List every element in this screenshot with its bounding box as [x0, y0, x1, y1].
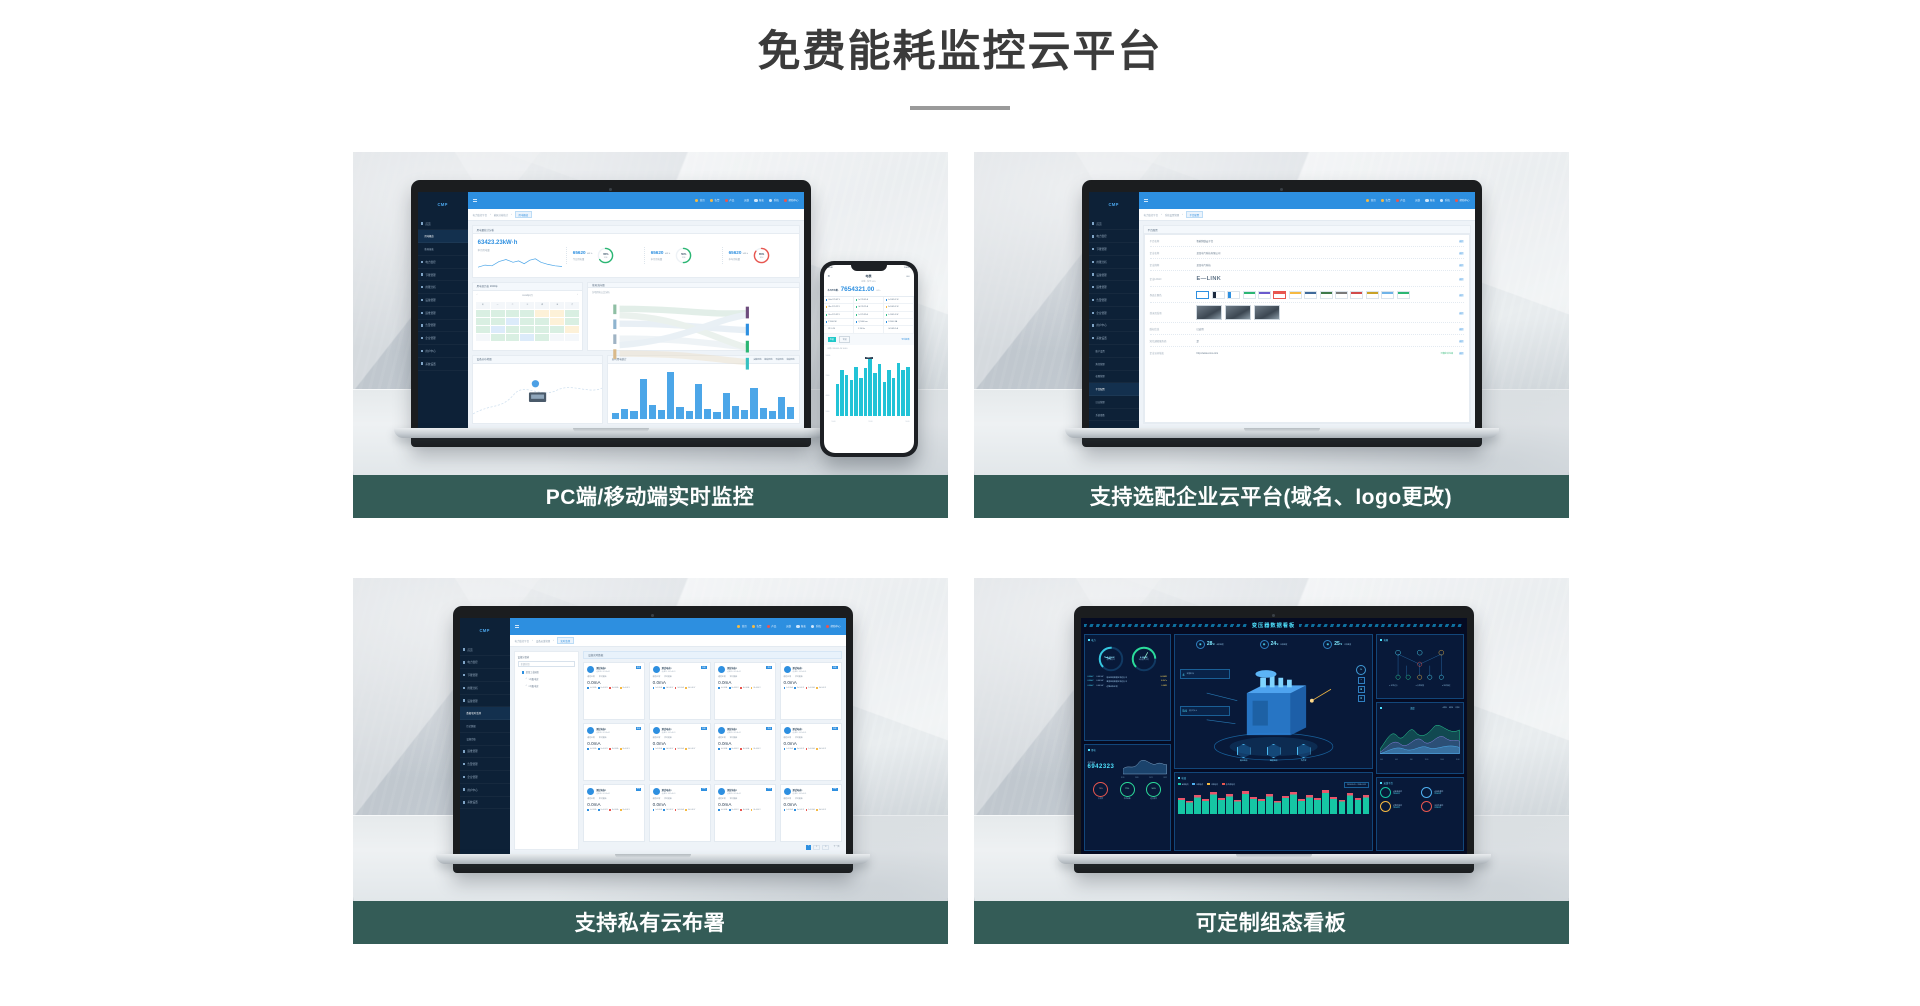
card-private-cloud[interactable]: CMP 首页 电力监控 节能管理 用能分析 设备管理 数据/实时监测 历史数据 …	[353, 578, 948, 944]
menu-toggle-icon[interactable]	[1144, 199, 1148, 202]
kpi-panel: 用电量统计分析 63423.23kW·h 本月用电量	[472, 225, 800, 278]
sidebar-item-7[interactable]: 设备台账	[460, 733, 510, 746]
sidebar-item-label: 用户中心	[425, 349, 435, 353]
sidebar-item-7[interactable]: 企业管理	[1089, 307, 1139, 320]
sparkline-chart	[478, 256, 562, 270]
panel-power: 电力 0.00kW总负荷功率	[1084, 634, 1171, 741]
toolbar-item-6[interactable]: 帮助中心	[826, 624, 841, 628]
product-photo-1: CMP 首页 用电概览 能耗报表 电力监控 节能管理 用能分析 设备管理 运维管…	[353, 152, 948, 475]
toolbar-item-3[interactable]: 运维	[1410, 198, 1420, 202]
card-custom-dashboard[interactable]: 变压器数据看板 电力	[974, 578, 1569, 944]
sidebar-item-label: 用电概览	[425, 234, 434, 238]
edit-link[interactable]: 编辑	[1459, 277, 1463, 281]
toolbar-item-4[interactable]: 报表	[796, 624, 806, 628]
sidebar-item-2[interactable]: 节能管理	[1089, 243, 1139, 256]
sidebar-item-1[interactable]: 电力监控	[460, 656, 510, 669]
product-photo-3: CMP 首页 电力监控 节能管理 用能分析 设备管理 数据/实时监测 历史数据 …	[353, 578, 948, 901]
sidebar-item-0[interactable]: 首页	[460, 644, 510, 657]
sidebar-item-8[interactable]: 运维管理	[460, 746, 510, 759]
toolbar-item-0[interactable]: 首页	[695, 198, 705, 202]
kpi-row: 63423.23kW·h 本月用电量 65620kW·h今	[473, 234, 799, 277]
stage-controls[interactable]: 24 ⌃ ⊞ ⚙	[1356, 665, 1366, 702]
table-row: 0.00kV0.00 kW电压监测数据正常运行中0.00MΩ	[1088, 676, 1167, 679]
reading-cell: Ia 270.62 A	[854, 297, 884, 304]
topology-legend: ● 正常运行● 异常告警● 检修停运	[1380, 685, 1459, 687]
user-icon	[784, 199, 787, 202]
device-value: 0.0mA	[718, 680, 772, 685]
status-badge: 在线	[832, 666, 838, 669]
donut-ring	[1421, 801, 1432, 812]
info-chip-runtime: 54 运行时长 h	[1180, 706, 1230, 716]
pod-group[interactable]: 电压监测 温度监测 负荷率	[1178, 744, 1369, 763]
status-badge: 在线	[636, 666, 642, 669]
page-title: 免费能耗监控云平台	[0, 26, 1920, 80]
sidebar-item-10[interactable]: 账户设置	[1089, 345, 1139, 358]
card-caption-4: 可定制组态看板	[974, 901, 1569, 944]
board-header: 变压器数据看板	[1084, 621, 1464, 631]
status-table: 0.00kV0.00 kW电压监测数据正常运行中0.00MΩ 0.00kV0.0…	[1088, 676, 1167, 688]
hex-icon	[1267, 744, 1281, 758]
sidebar-item-8[interactable]: 用户中心	[1089, 320, 1139, 333]
decor-dash-right	[1299, 624, 1463, 627]
config-row-logo: 企业LOGOE—LINK编辑	[1150, 271, 1464, 287]
tab-energy[interactable]: 电量	[828, 337, 837, 342]
sidebar-item-3[interactable]: 电力监控	[418, 256, 468, 269]
device-card[interactable]: 在线测试电表1设备ID: 001-A-01通信正常实时更新0.0mAIa 0.0…	[583, 662, 645, 719]
device-card[interactable]: 在线测试电表1设备ID: 001-A-01通信正常实时更新0.0mAIa 0.0…	[780, 723, 842, 780]
thermometer-icon: ◉	[1196, 640, 1205, 649]
sidebar-item-0[interactable]: 首页	[1089, 218, 1139, 231]
sidebar-item-4[interactable]: 设备管理	[460, 695, 510, 708]
reading-cell: Ih 1665.5 A	[884, 326, 914, 333]
dashboard-body: 用电量统计分析 63423.23kW·h 本月用电量	[468, 221, 804, 427]
sidebar-item-1[interactable]: 电力监控	[1089, 230, 1139, 243]
reading-cell: lb 1665.5 W	[884, 304, 914, 311]
edit-link[interactable]: 编辑	[1459, 311, 1463, 315]
calendar-nav[interactable]: ‹ 2024年1月 ›	[473, 291, 582, 299]
status-dot-icon	[710, 199, 713, 202]
sidebar-item-8[interactable]: 告警管理	[418, 320, 468, 333]
sidebar-item-label: 节能管理	[425, 273, 435, 277]
sidebar-item-4[interactable]: 节能管理	[418, 269, 468, 282]
toolbar-item-4[interactable]: 报表	[754, 198, 764, 202]
breadcrumb: 电力监控平台 › 能耗分析统计 › 用电概览	[468, 209, 804, 222]
toolbar-item-1[interactable]: 告警	[1381, 198, 1391, 202]
hex-icon	[1237, 744, 1251, 758]
title-divider	[910, 106, 1010, 110]
device-card[interactable]: 在线测试电表1设备ID: 001-A-01通信正常实时更新0.0mAIa 0.0…	[583, 723, 645, 780]
sidebar-item-6[interactable]: 设备管理	[418, 294, 468, 307]
toolbar-item-3[interactable]: 运维	[781, 624, 791, 628]
toolbar-item-1[interactable]: 告警	[710, 198, 720, 202]
phone-readings-grid: Uab 270.62 V Ia 270.62 A la 1665.5 W Ubc…	[824, 297, 914, 334]
sankey-diagram	[588, 296, 798, 371]
device-value: 0.0mA	[653, 680, 707, 685]
device-value: 0.0mA	[718, 802, 772, 807]
menu-toggle-icon[interactable]	[515, 625, 519, 628]
sidebar-item-9[interactable]: 告警管理	[460, 758, 510, 771]
panel-title: 电网	[1380, 638, 1459, 642]
config-panel: 平台配置 平台名称智能物联云平台编辑 企业名称某某电气科技有限公司编辑 企业简称…	[1143, 225, 1471, 423]
toolbar-item-6[interactable]: 帮助中心	[1455, 198, 1470, 202]
thumb-0[interactable]	[1196, 305, 1222, 320]
breadcrumb-active-tab[interactable]: 平台配置	[1186, 211, 1203, 218]
bullet-icon	[1092, 312, 1094, 314]
status-dot-icon	[739, 199, 742, 202]
app-logo[interactable]: CMP	[418, 192, 468, 218]
toolbar-item-2[interactable]: 产品	[1396, 198, 1406, 202]
device-card[interactable]: 在线测试电表1设备ID: 001-A-01通信正常实时更新0.0mAIa 0.0…	[583, 784, 645, 841]
edit-link[interactable]: 编辑	[1459, 293, 1463, 297]
theme-swatches[interactable]	[1196, 291, 1453, 299]
swatch-4[interactable]	[1258, 291, 1271, 299]
bullet-icon	[421, 312, 423, 314]
breadcrumb-item[interactable]: 能耗分析统计	[494, 213, 508, 217]
panel-temperature: 温度 A相温 B相温 C相温	[1376, 702, 1463, 774]
device-avatar-icon	[718, 727, 725, 734]
pod-temperature[interactable]: 温度监测	[1267, 744, 1281, 763]
sidebar-item-0[interactable]: 首页	[418, 218, 468, 231]
sidebar-item-11[interactable]: 角色管理	[1089, 358, 1139, 371]
device-avatar-icon	[784, 788, 791, 795]
device-card[interactable]: 在线测试电表1设备ID: 001-A-01通信正常实时更新0.0mAIa 0.0…	[714, 723, 776, 780]
device-avatar-icon	[587, 666, 594, 673]
sidebar-item-label: 告警管理	[425, 323, 435, 327]
page-3[interactable]: 3	[822, 845, 829, 850]
device-card[interactable]: 在线测试电表1设备ID: 001-A-01通信正常实时更新0.0mAIa 0.0…	[780, 784, 842, 841]
swatch-1[interactable]	[1212, 291, 1225, 299]
sidebar-item-label: 首页	[425, 222, 430, 226]
toolbar-item-0[interactable]: 首页	[1366, 198, 1376, 202]
config-app: CMP 首页 电力监控 节能管理 用能分析 设备管理 运维管理 告警管理 企业管…	[1089, 192, 1475, 428]
zoom-in-icon[interactable]: ⌃	[1358, 677, 1365, 684]
bullet-icon	[463, 801, 465, 803]
edit-link[interactable]: 编辑	[1459, 251, 1463, 255]
swatch-3[interactable]	[1243, 291, 1256, 299]
app-logo[interactable]: CMP	[460, 618, 510, 644]
swatch-2[interactable]	[1227, 291, 1240, 299]
sidebar-item-12[interactable]: 权限管理	[1089, 371, 1139, 384]
status-dot-icon	[781, 625, 784, 628]
more-icon[interactable]: •••	[906, 274, 909, 278]
breadcrumb-item[interactable]: 设备运维管理	[536, 639, 550, 643]
device-card[interactable]: 在线测试电表1设备ID: 001-A-01通信正常实时更新0.0mAIa 0.0…	[780, 662, 842, 719]
temp-legend[interactable]: A相温 B相温 C相温	[1443, 707, 1460, 709]
swatch-8[interactable]	[1320, 291, 1333, 299]
device-avatar-icon	[784, 666, 791, 673]
dashboard-app: CMP 首页 用电概览 能耗报表 电力监控 节能管理 用能分析 设备管理 运维管…	[418, 192, 804, 428]
tab-demand[interactable]: 需量	[839, 336, 850, 343]
phone-tabs: 电量 需量 导出报表	[824, 334, 914, 346]
sidebar-item-5[interactable]: 用能分析	[418, 281, 468, 294]
chart-legend[interactable]: A相电流 B相电流 C相电流 总负荷电流	[1178, 783, 1235, 786]
gauge-group: 0.00kW总负荷功率 0.00kW当前最大负荷	[1088, 644, 1167, 674]
webcam-dot	[1272, 614, 1275, 617]
card-enterprise-cloud[interactable]: CMP 首页 电力监控 节能管理 用能分析 设备管理 运维管理 告警管理 企业管…	[974, 152, 1569, 518]
board-left-column: 电力 0.00kW总负荷功率	[1084, 634, 1171, 851]
config-row-theme: 界面主题色	[1150, 287, 1464, 303]
kpi-card-0: 65620kW·h今日用电量 65%环比	[566, 247, 638, 264]
device-card[interactable]: 在线测试电表1设备ID: 001-A-01通信正常实时更新0.0mAIa 0.0…	[714, 784, 776, 841]
tree-node-0[interactable]: 某某工业园区	[522, 670, 576, 674]
tree-node-1[interactable]: ○1号配电房	[526, 677, 576, 681]
main-area: 首页 告警 产品 运维 报表 系统 帮助中心 电力监控平台	[468, 192, 804, 428]
kpi-power-factor: 75%功率因数	[1120, 782, 1135, 801]
page-1[interactable]: 1	[806, 845, 811, 850]
breadcrumb-item[interactable]: 电力监控平台	[473, 213, 487, 217]
toolbar-item-1[interactable]: 告警	[752, 624, 762, 628]
device-card[interactable]: 在线测试电表1设备ID: 001-A-01通信正常实时更新0.0mAIa 0.0…	[649, 723, 711, 780]
thermometer-icon: ◉	[1260, 640, 1269, 649]
settings-icon[interactable]: ⚙	[1358, 695, 1365, 702]
sidebar-item-9[interactable]: 系统设置	[1089, 332, 1139, 345]
bullet-icon	[1092, 286, 1094, 288]
status-dot-icon	[767, 625, 770, 628]
top-toolbar: 首页 告警 产品 运维 报表 系统 帮助中心	[1139, 192, 1475, 209]
status-badge: 在线	[766, 727, 772, 730]
bullet-icon	[421, 286, 423, 288]
breadcrumb-item[interactable]: 电力监控平台	[515, 639, 529, 643]
sidebar-item-2[interactable]: 能耗报表	[418, 243, 468, 256]
kpi-efficiency: 50%运行效率	[1146, 782, 1161, 801]
panel-efficiency: 运维平台 设备在线率7654321 设备告警率7654321 运维完成率7654…	[1376, 777, 1463, 851]
sidebar-item-7[interactable]: 运维管理	[418, 307, 468, 320]
bullet-icon	[1092, 235, 1094, 237]
device-card[interactable]: 在线测试电表1设备ID: 001-A-01通信正常实时更新0.0mAIa 0.0…	[714, 662, 776, 719]
toolbar-item-2[interactable]: 产品	[767, 624, 777, 628]
swatch-11[interactable]	[1366, 291, 1379, 299]
sidebar-item-label: 运维管理	[425, 311, 435, 315]
toolbar-item-2[interactable]: 产品	[725, 198, 735, 202]
phone-bar-chart: 10000 7000 4000 1000 8963.2 10:00	[824, 351, 914, 425]
thumb-1[interactable]	[1225, 305, 1251, 320]
gauge-total-load: 0.00kW总负荷功率	[1096, 644, 1126, 674]
sidebar-item-3[interactable]: 用能分析	[1089, 256, 1139, 269]
status-badge: 已绑定并生效	[1441, 352, 1453, 355]
status-badge: 在线	[766, 788, 772, 791]
sidebar-item-5[interactable]: 运维管理	[1089, 281, 1139, 294]
phone-main-kpi: 本月用电量: 7654321.00 kW·h	[824, 283, 914, 297]
export-button[interactable]: 导出报表	[901, 338, 909, 341]
reading-cell: P 5000 W	[824, 319, 854, 326]
sidebar-item-1[interactable]: 用电概览	[418, 230, 468, 243]
card-caption-2: 支持选配企业云平台(域名、logo更改)	[974, 475, 1569, 518]
toolbar-item-5[interactable]: 系统	[1440, 198, 1450, 202]
mid-row: 用电日历表 2024年 ‹ 2024年1月 › 日	[472, 282, 800, 351]
report-icon	[796, 625, 799, 628]
breadcrumb-item[interactable]: 系统设置管理	[1165, 213, 1179, 217]
user-icon	[1455, 199, 1458, 202]
hex-icon	[1297, 744, 1311, 758]
toolbar-item-5[interactable]: 系统	[811, 624, 821, 628]
laptop-base	[394, 428, 828, 438]
user-icon	[826, 625, 829, 628]
device-card[interactable]: 在线测试电表1设备ID: 001-A-01通信正常实时更新0.0mAIa 0.0…	[649, 784, 711, 841]
status-dot-icon	[1381, 199, 1384, 202]
phone-notch	[851, 265, 887, 271]
report-icon	[1425, 199, 1428, 202]
kpi-load-rate: 75%负荷率	[1093, 782, 1108, 801]
lock-icon	[1440, 199, 1443, 202]
app-logo[interactable]: CMP	[1089, 192, 1139, 218]
sidebar-item-3[interactable]: 用能分析	[460, 682, 510, 695]
toolbar-item-4[interactable]: 报表	[1425, 198, 1435, 202]
edit-link[interactable]: 编辑	[1459, 327, 1463, 331]
bar-chart	[608, 364, 799, 423]
next-page[interactable]: 下一页	[831, 845, 841, 850]
status-dot-icon	[752, 625, 755, 628]
toolbar-item-6[interactable]: 帮助中心	[784, 198, 799, 202]
status-badge: 在线	[636, 727, 642, 730]
sidebar-item-12[interactable]: 系统设置	[460, 797, 510, 810]
device-value: 0.0mA	[587, 802, 641, 807]
card-pc-mobile-monitor[interactable]: CMP 首页 用电概览 能耗报表 电力监控 节能管理 用能分析 设备管理 运维管…	[353, 152, 948, 518]
status-dot-icon	[1396, 199, 1399, 202]
menu-toggle-icon[interactable]	[473, 199, 477, 202]
status-badge: 在线	[701, 788, 707, 791]
swatch-6[interactable]	[1289, 291, 1302, 299]
panel-title: 运维平台	[1380, 781, 1459, 785]
donut-1: 设备告警率7654321	[1421, 787, 1459, 798]
sidebar-item-label: 电力监控	[425, 260, 435, 264]
bullet-icon	[421, 337, 423, 339]
product-photo-4: 变压器数据看板 电力	[974, 578, 1569, 901]
reading-cell: Ic 270.32 A	[854, 312, 884, 319]
energy-value: 6942323	[1088, 764, 1122, 770]
status-dot-icon	[725, 199, 728, 202]
tree-node-2[interactable]: ○2号配电房	[526, 684, 576, 688]
device-avatar-icon	[653, 788, 660, 795]
edit-link[interactable]: 编辑	[1459, 263, 1463, 267]
panel-title: 电流	[1178, 776, 1369, 780]
status-badge: 在线	[701, 727, 707, 730]
toolbar-item-3[interactable]: 运维	[739, 198, 749, 202]
edit-link[interactable]: 编辑	[1459, 339, 1463, 343]
donut-ring	[1380, 801, 1391, 812]
status-badge: 在线	[832, 727, 838, 730]
sidebar-item-5[interactable]: 数据/实时监测	[460, 707, 510, 720]
temperature-readouts: ◉28℃A相温度 ◉24℃B相温度 ◉25℃C相温度	[1178, 638, 1369, 651]
panel-transformer-stage: ◉28℃A相温度 ◉24℃B相温度 ◉25℃C相温度	[1174, 634, 1373, 770]
background-thumbnails[interactable]	[1196, 305, 1453, 320]
sidebar-item-10[interactable]: 企业管理	[460, 771, 510, 784]
kpi-card-2: 65620kW·h本年用电量 85%环比	[722, 247, 794, 264]
board-right-column: 电网	[1376, 634, 1463, 851]
kpi-unit: kW·h	[876, 290, 880, 292]
swatch-9[interactable]	[1335, 291, 1348, 299]
board-center-column: ◉28℃A相温度 ◉24℃B相温度 ◉25℃C相温度	[1174, 634, 1373, 851]
calendar-panel: 用电日历表 2024年 ‹ 2024年1月 › 日	[472, 282, 583, 351]
sidebar-item-label: 系统设置	[425, 362, 435, 366]
laptop-screen-2: CMP 首页 电力监控 节能管理 用能分析 设备管理 运维管理 告警管理 企业管…	[1089, 192, 1475, 428]
sidebar-item-10[interactable]: 用户中心	[418, 345, 468, 358]
sidebar-item-9[interactable]: 企业管理	[418, 332, 468, 345]
panel-energy: 用电 总用电量 6942323	[1084, 744, 1171, 851]
status-dot-icon	[1366, 199, 1369, 202]
edit-link[interactable]: 编辑	[1459, 351, 1463, 355]
map-canvas[interactable]	[473, 364, 602, 423]
device-panel: 设备实时数据 在线测试电表1设备ID: 001-A-01通信正常实时更新0.0m…	[583, 651, 841, 849]
close-icon[interactable]: ✕	[828, 274, 831, 278]
swatch-12[interactable]	[1381, 291, 1394, 299]
pod-voltage[interactable]: 电压监测	[1237, 744, 1251, 763]
breadcrumb-active-tab[interactable]: 实时监测	[557, 637, 574, 644]
sidebar-item-label: 设备管理	[425, 298, 435, 302]
panel-title: 温度	[1410, 706, 1415, 710]
grid-icon[interactable]: ⊞	[1358, 686, 1365, 693]
swatch-13[interactable]	[1397, 291, 1410, 299]
sidebar-item-6[interactable]: 告警管理	[1089, 294, 1139, 307]
page-2[interactable]: 2	[813, 845, 820, 850]
device-layout: 设备分组树 全部分组 某某工业园区 ○1号配电房 ○2号配电房 设备实时数据	[514, 651, 842, 849]
sidebar-item-6[interactable]: 历史数据	[460, 720, 510, 733]
swatch-5[interactable]	[1273, 291, 1286, 299]
sidebar: CMP 首页 用电概览 能耗报表 电力监控 节能管理 用能分析 设备管理 运维管…	[418, 192, 468, 428]
date-range-picker[interactable]: 2024-01-05 ~ 2024-01-31	[1344, 782, 1369, 787]
bullet-icon	[421, 350, 423, 352]
sidebar-item-15[interactable]: 系统参数	[1089, 409, 1139, 422]
feature-card-grid: CMP 首页 用电概览 能耗报表 电力监控 节能管理 用能分析 设备管理 运维管…	[353, 152, 1568, 944]
panel-current: 电流 A相电流 B相电流 C相电流 总负荷电流	[1174, 772, 1373, 850]
phone-screen: 10:40 100% ✕ 电表 ••• 在线 · 信号 96% 本月用电量: 7…	[824, 265, 914, 453]
sidebar-item-11[interactable]: 系统设置	[418, 358, 468, 371]
sidebar-item-4[interactable]: 设备管理	[1089, 269, 1139, 282]
toolbar-item-5[interactable]: 系统	[769, 198, 779, 202]
panel-title: 设备实时数据	[583, 651, 841, 659]
transformer-3d-visual[interactable]: 4 告警数 条 54 运行时长 h	[1178, 651, 1369, 766]
device-card[interactable]: 在线测试电表1设备ID: 001-A-01通信正常实时更新0.0mAIa 0.0…	[649, 662, 711, 719]
edit-link[interactable]: 编辑	[1459, 239, 1463, 243]
status-badge: 在线	[636, 788, 642, 791]
calendar-grid[interactable]: 日 一 二 三 四 五 六	[473, 299, 582, 344]
device-body: 设备分组树 全部分组 某某工业园区 ○1号配电房 ○2号配电房 设备实时数据	[510, 647, 846, 853]
reading-cell: Q 5000 var	[854, 319, 884, 326]
gauge-ring: 85%环比	[753, 247, 770, 264]
pagination[interactable]: 1 2 3 下一页	[583, 842, 841, 850]
bullet-icon	[421, 362, 423, 364]
device-avatar-icon	[653, 666, 660, 673]
swatch-10[interactable]	[1350, 291, 1363, 299]
toolbar-item-0[interactable]: 首页	[737, 624, 747, 628]
lock-icon	[769, 199, 772, 202]
sidebar-item-label: 企业管理	[425, 336, 435, 340]
sidebar-item-13[interactable]: 平台配置	[1089, 383, 1139, 396]
sidebar-item-2[interactable]: 节能管理	[460, 669, 510, 682]
card-caption-3: 支持私有云布署	[353, 901, 948, 944]
thumb-2[interactable]	[1254, 305, 1280, 320]
status-badge: 在线	[832, 788, 838, 791]
sidebar-item-11[interactable]: 用户中心	[460, 784, 510, 797]
main-area: 首页 告警 产品 运维 报表 系统 帮助中心 电力监控平台	[510, 618, 846, 854]
page-header: 免费能耗监控云平台	[0, 0, 1920, 110]
swatch-0[interactable]	[1196, 291, 1209, 299]
board-main-row: 电力 0.00kW总负荷功率	[1084, 634, 1464, 851]
topology-diagram	[1380, 644, 1459, 684]
swatch-7[interactable]	[1304, 291, 1317, 299]
chart-x-axis: 10:00 12:00 14:00	[832, 422, 910, 423]
sidebar-item-14[interactable]: 日志管理	[1089, 396, 1139, 409]
reading-cell: PF 0.24	[824, 326, 854, 333]
group-select[interactable]: 全部分组	[518, 661, 576, 667]
device-app: CMP 首页 电力监控 节能管理 用能分析 设备管理 数据/实时监测 历史数据 …	[460, 618, 846, 854]
pod-load[interactable]: 负荷率	[1297, 744, 1311, 763]
bullet-icon	[463, 763, 465, 765]
breadcrumb-active-tab[interactable]: 用电概览	[515, 211, 532, 218]
temp-x-axis: 0:00 4:00 8:00 12:00 16:00 20:00	[1380, 760, 1459, 761]
breadcrumb-item[interactable]: 电力监控平台	[1144, 213, 1158, 217]
sidebar: CMP 首页 电力监控 节能管理 用能分析 设备管理 运维管理 告警管理 企业管…	[1089, 192, 1139, 428]
bullet-icon	[463, 776, 465, 778]
